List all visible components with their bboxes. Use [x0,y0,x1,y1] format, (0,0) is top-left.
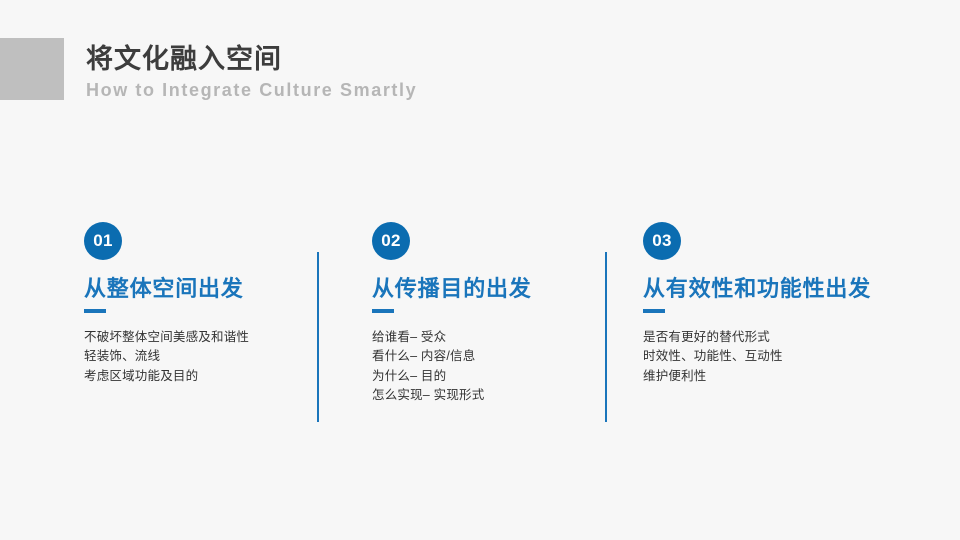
page-subtitle-en: How to Integrate Culture Smartly [86,77,846,103]
body-line: 时效性、功能性、互动性 [643,347,903,366]
column-number-badge: 03 [643,222,681,260]
column-number-badge: 01 [84,222,122,260]
column-heading: 从有效性和功能性出发 [643,275,903,303]
body-line: 轻装饰、流线 [84,347,309,366]
heading-underline-dash [84,309,106,313]
column-02: 02 从传播目的出发 给谁看– 受众 看什么– 内容/信息 为什么– 目的 怎么… [372,222,597,406]
column-number-badge: 02 [372,222,410,260]
body-line: 考虑区域功能及目的 [84,367,309,386]
body-line: 不破坏整体空间美感及和谐性 [84,328,309,347]
page-title-cn: 将文化融入空间 [86,42,846,76]
column-heading: 从传播目的出发 [372,275,597,303]
column-divider-2 [605,252,607,422]
header-accent-block [0,38,64,100]
column-body: 给谁看– 受众 看什么– 内容/信息 为什么– 目的 怎么实现– 实现形式 [372,328,597,406]
column-heading: 从整体空间出发 [84,275,309,303]
heading-underline-dash [372,309,394,313]
body-line: 怎么实现– 实现形式 [372,386,597,405]
body-line: 是否有更好的替代形式 [643,328,903,347]
column-body: 不破坏整体空间美感及和谐性 轻装饰、流线 考虑区域功能及目的 [84,328,309,386]
body-line: 维护便利性 [643,367,903,386]
body-line: 看什么– 内容/信息 [372,347,597,366]
column-03: 03 从有效性和功能性出发 是否有更好的替代形式 时效性、功能性、互动性 维护便… [643,222,903,386]
heading-underline-dash [643,309,665,313]
column-01: 01 从整体空间出发 不破坏整体空间美感及和谐性 轻装饰、流线 考虑区域功能及目… [84,222,309,386]
column-body: 是否有更好的替代形式 时效性、功能性、互动性 维护便利性 [643,328,903,386]
slide-canvas: 将文化融入空间 How to Integrate Culture Smartly… [0,0,960,540]
column-divider-1 [317,252,319,422]
columns-container: 01 从整体空间出发 不破坏整体空间美感及和谐性 轻装饰、流线 考虑区域功能及目… [0,222,960,432]
body-line: 给谁看– 受众 [372,328,597,347]
body-line: 为什么– 目的 [372,367,597,386]
header-text-group: 将文化融入空间 How to Integrate Culture Smartly [86,42,846,103]
